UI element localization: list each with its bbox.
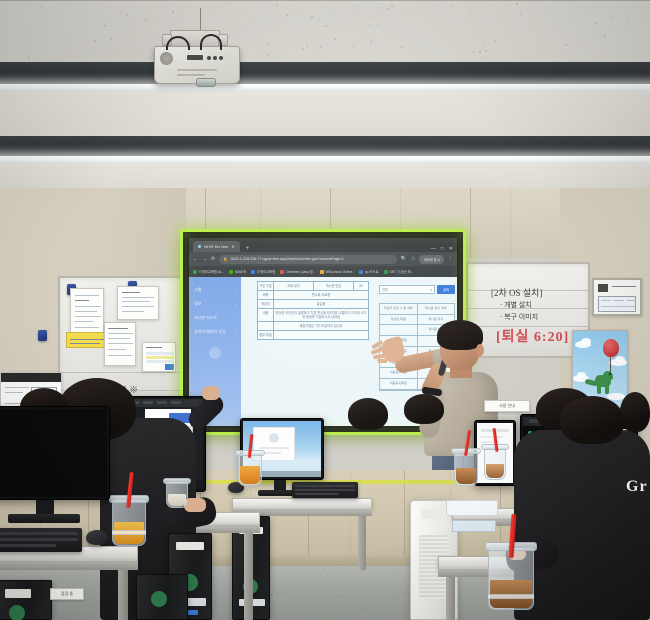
- sidebar-item[interactable]: 게시판 리스트: [189, 311, 241, 325]
- address-bar[interactable]: 🔒 0432-1-228-236-77.ngrok-free.app/Zario…: [219, 255, 397, 264]
- chevron-right-icon: ›: [235, 302, 236, 307]
- bookmark-favicon-icon: [280, 270, 284, 274]
- new-tab-button[interactable]: +: [243, 246, 253, 252]
- form-table-cell: 첨부 파일: [258, 331, 274, 339]
- lock-icon: 🔒: [223, 257, 227, 261]
- balloon-icon: [603, 339, 619, 357]
- form-table-row: 첨부 파일: [258, 331, 368, 339]
- bookmark-label: IT정보교육원: [257, 269, 275, 274]
- page-search-bar: 전체 ▾ 검색: [379, 285, 455, 294]
- sidebar-item[interactable]: 정보›: [189, 297, 241, 311]
- desk-label-card-left: 점검 중: [50, 588, 84, 600]
- projected-form-table: 구분 구분자료 공지게시판 번호20제목변수와 자료형작성자홍길동내용변수란 무…: [257, 281, 369, 340]
- form-table-cell: 홍길동: [274, 300, 368, 308]
- bookmark-favicon-icon: [384, 270, 388, 274]
- ceiling-light-channel-2: [0, 136, 650, 156]
- instructor-ear: [476, 344, 484, 356]
- tab-close-icon[interactable]: ✕: [231, 244, 234, 249]
- student-right-front-head: [560, 396, 624, 444]
- window-maximize-icon[interactable]: □: [441, 246, 444, 252]
- form-table-cell: 게시판 번호: [314, 282, 354, 290]
- bookmark-favicon-icon: [359, 270, 363, 274]
- student-mid-head: [348, 398, 388, 430]
- drink-cup-back-left: [238, 454, 262, 486]
- poster-curriculum-sheet: [70, 288, 104, 336]
- drink-cup-right-large: [488, 548, 534, 610]
- form-table-cell: 변수란 무엇인지 설명하고 기본 변수형 5가지를 나열하고 각각의 크기와 범…: [274, 309, 368, 321]
- form-table-cell: [274, 331, 368, 339]
- desk-back-left-top: [232, 498, 372, 510]
- student-right-head-far: [620, 392, 650, 432]
- bookmarks-bar: IT정보교육원 AL..NAVERIT정보교육원Overview (Java 정…: [189, 266, 457, 277]
- form-table-cell: 자료 공지: [274, 282, 314, 290]
- sidebar-item-label: 공지와 페이지 공유: [194, 329, 226, 335]
- ceiling-led-strip-1: [0, 84, 650, 91]
- bookmark-item[interactable]: WSLohook Online..: [320, 270, 354, 274]
- window-close-icon[interactable]: ✕: [449, 246, 453, 252]
- student-shirt-text: Gr: [626, 478, 648, 496]
- drink-cup-right-2: [484, 448, 506, 480]
- browser-tab-bar: NHIS Kiz fare ✕ + — □ ✕: [189, 238, 457, 252]
- profile-chip[interactable]: 세조정 표시: [419, 255, 444, 264]
- monitor-front-left[interactable]: [0, 406, 110, 500]
- sidebar-item-label: 게시판 리스트: [194, 315, 217, 321]
- reload-icon[interactable]: ⟳: [211, 257, 215, 262]
- back-icon[interactable]: ←: [193, 257, 198, 262]
- monitor-front-left-screen: [0, 409, 107, 497]
- form-table-cell: 작성자: [258, 300, 274, 308]
- drink-cup-mid-left: [112, 500, 146, 546]
- sidebar-item-label: 그룹: [194, 287, 201, 293]
- bookmark-item[interactable]: SKT 기,정산 제..: [384, 269, 413, 274]
- window-minimize-icon[interactable]: —: [431, 246, 436, 252]
- whiteboard-right-line-1: [2차 OS 설치]: [491, 286, 542, 299]
- form-table-row: 제목변수와 자료형: [258, 291, 368, 300]
- sidebar-collapse-button[interactable]: [209, 347, 221, 359]
- sidebar-item[interactable]: 공지와 페이지 공유›: [189, 325, 241, 339]
- search-button[interactable]: 검색: [437, 285, 455, 294]
- forward-icon[interactable]: →: [202, 257, 207, 262]
- browser-tab[interactable]: NHIS Kiz fare ✕: [193, 241, 240, 252]
- paper-tray-right: [446, 500, 498, 516]
- form-table-cell: [258, 322, 274, 330]
- bookmark-label: WSLohook Online..: [326, 270, 354, 274]
- search-scope-value: 전체: [382, 287, 388, 292]
- bookmark-label: SKT 기,정산 제..: [390, 269, 413, 274]
- drink-cup-mid-left-2: [166, 482, 188, 508]
- whiteboard-right-red-note: [퇴실 6:20]: [496, 326, 569, 346]
- bookmark-label: Overview (Java 정..: [286, 269, 315, 274]
- ceiling-mounted-projector: [148, 8, 244, 88]
- search-scope-select[interactable]: 전체 ▾: [379, 285, 435, 294]
- pc-tower-front-left-2: [136, 574, 188, 620]
- desk-label-card-right: 사용 안내: [484, 400, 530, 412]
- browser-menu-icon[interactable]: ⋮: [448, 257, 453, 262]
- bookmark-label: sp 카드로: [365, 269, 379, 274]
- form-table-cell: 내용: [258, 309, 274, 321]
- form-table-row: 구분 구분자료 공지게시판 번호20: [258, 282, 368, 291]
- ceiling-light-channel-1: [0, 62, 650, 84]
- form-table-row: 제출기한은 7월 20일까지 입니다: [258, 322, 368, 331]
- bookmark-star-icon[interactable]: ☆: [411, 257, 415, 262]
- bookmark-item[interactable]: IT정보교육원: [251, 269, 275, 274]
- pc-tower-front-left: [0, 580, 52, 620]
- bookmark-item[interactable]: NAVER: [229, 270, 246, 274]
- poster-schedule-sheet: [104, 322, 136, 366]
- ceiling-led-strip-2: [0, 156, 650, 163]
- search-icon[interactable]: 🔍: [401, 257, 407, 262]
- chevron-right-icon: ›: [235, 330, 236, 335]
- browser-nav-bar: ← → ⟳ 🔒 0432-1-228-236-77.ngrok-free.app…: [189, 252, 457, 266]
- chevron-right-icon: ›: [235, 288, 236, 293]
- mouse-front-left[interactable]: [86, 530, 108, 545]
- student-right-front-body: [514, 430, 650, 620]
- magnet-left-3: [38, 330, 47, 341]
- bookmark-item[interactable]: Overview (Java 정..: [280, 269, 315, 274]
- keyboard-front-left[interactable]: [0, 528, 82, 552]
- bookmark-favicon-icon: [229, 270, 233, 274]
- evacuation-notice-frame: [592, 278, 642, 316]
- url-text: 0432-1-228-236-77.ngrok-free.app/ZarioVo…: [231, 257, 344, 261]
- form-table-cell: 제목: [258, 291, 274, 299]
- form-table-cell: 변수와 자료형: [274, 291, 368, 299]
- tab-title: NHIS Kiz fare: [204, 244, 228, 249]
- bookmark-favicon-icon: [193, 270, 197, 274]
- form-table-cell: 제출기한은 7월 20일까지 입니다: [274, 322, 368, 330]
- profile-label: 세조정 표시: [423, 257, 440, 262]
- bookmark-item[interactable]: sp 카드로: [359, 269, 379, 274]
- form-table-row: 내용변수란 무엇인지 설명하고 기본 변수형 5가지를 나열하고 각각의 크기와…: [258, 309, 368, 322]
- form-table-row: 작성자홍길동: [258, 300, 368, 309]
- sidebar-item[interactable]: 그룹›: [189, 283, 241, 297]
- bookmark-favicon-icon: [320, 270, 324, 274]
- student-back-left-hand: [202, 386, 220, 400]
- tissue-box-right: [452, 520, 496, 532]
- bookmark-item[interactable]: IT정보교육원 AL..: [193, 269, 224, 274]
- bookmark-label: NAVER: [235, 270, 246, 274]
- drink-cup-right-1: [454, 452, 478, 486]
- form-table-cell: 구분 구분: [258, 282, 274, 290]
- poster-score-table-sheet: [142, 342, 176, 372]
- tab-favicon: [198, 245, 201, 248]
- bookmark-label: IT정보교육원 AL..: [199, 269, 224, 274]
- poster-notice-sheet: [117, 286, 159, 320]
- form-table-cell: 20: [354, 282, 368, 290]
- bookmark-favicon-icon: [251, 270, 255, 274]
- chevron-down-icon: ▾: [430, 288, 432, 292]
- sidebar-item-label: 정보: [194, 301, 201, 307]
- student-mid-head-2: [404, 394, 444, 424]
- keyboard-back-left[interactable]: [292, 482, 358, 498]
- classroom-photo: ※ 정보처리기사 ※ 6월 ~ 8월 접수! [2차 OS 설치] · 개별 설…: [0, 0, 650, 620]
